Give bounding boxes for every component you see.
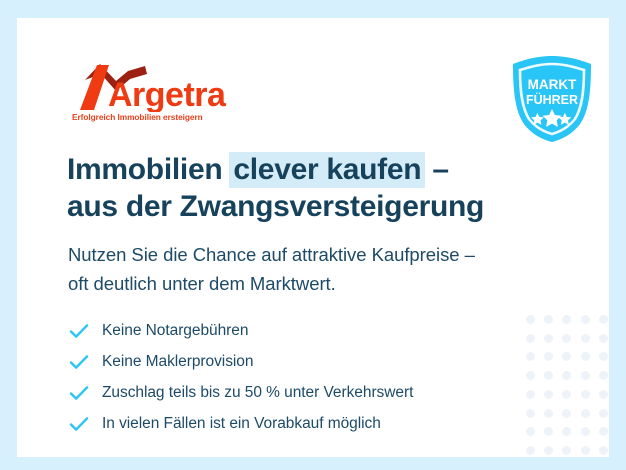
dot <box>581 334 590 343</box>
list-item: Keine Notargebühren <box>68 315 538 346</box>
dot <box>581 390 590 399</box>
dot <box>581 427 590 436</box>
dot <box>599 409 608 418</box>
headline-line1-after: – <box>424 153 448 186</box>
dot <box>562 446 571 455</box>
market-leader-badge: MARKT FÜHRER <box>507 53 597 145</box>
dot <box>544 371 553 380</box>
check-icon <box>68 382 90 404</box>
dot <box>581 446 590 455</box>
check-icon <box>68 413 90 435</box>
dot <box>581 371 590 380</box>
dot <box>581 315 590 324</box>
subtitle: Nutzen Sie die Chance auf attraktive Kau… <box>68 240 578 298</box>
dot <box>562 409 571 418</box>
dot <box>562 352 571 361</box>
dot <box>599 371 608 380</box>
dot <box>544 315 553 324</box>
dot <box>544 409 553 418</box>
badge-line2: FÜHRER <box>526 92 578 107</box>
dot <box>599 390 608 399</box>
dot <box>581 409 590 418</box>
list-item-label: In vielen Fällen ist ein Vorabkauf mögli… <box>102 414 381 434</box>
list-item: Keine Maklerprovision <box>68 346 538 377</box>
dot <box>599 427 608 436</box>
dot <box>599 446 608 455</box>
list-item: In vielen Fällen ist ein Vorabkauf mögli… <box>68 408 538 439</box>
banner-card: Argetra Erfolgreich Immobilien ersteiger… <box>17 18 609 457</box>
dot <box>544 334 553 343</box>
svg-text:Argetra: Argetra <box>108 76 227 112</box>
dot <box>581 352 590 361</box>
dot <box>562 427 571 436</box>
dot <box>599 315 608 324</box>
dot <box>562 334 571 343</box>
subtitle-line1: Nutzen Sie die Chance auf attraktive Kau… <box>68 244 475 265</box>
dot <box>599 334 608 343</box>
list-item-label: Keine Notargebühren <box>102 321 248 341</box>
argetra-logo-mark: Argetra <box>72 62 282 112</box>
badge-line1: MARKT <box>528 77 577 92</box>
headline-highlight: clever kaufen <box>229 152 425 188</box>
check-icon <box>68 351 90 373</box>
promo-banner: Argetra Erfolgreich Immobilien ersteiger… <box>0 0 626 470</box>
dot <box>599 352 608 361</box>
check-icon <box>68 320 90 342</box>
list-item-label: Keine Maklerprovision <box>102 352 253 372</box>
logo-tagline: Erfolgreich Immobilien ersteigern <box>72 112 203 122</box>
dot <box>544 446 553 455</box>
headline-line1: Immobilien clever kaufen – <box>67 153 449 186</box>
dot <box>526 446 535 455</box>
dot <box>544 390 553 399</box>
argetra-logo: Argetra Erfolgreich Immobilien ersteiger… <box>72 62 282 124</box>
dot <box>562 371 571 380</box>
subtitle-line2: oft deutlich unter dem Marktwert. <box>68 273 336 294</box>
headline-line1-before: Immobilien <box>67 153 230 186</box>
page-title: Immobilien clever kaufen – aus der Zwang… <box>67 151 567 225</box>
dot <box>562 390 571 399</box>
dot <box>544 352 553 361</box>
list-item: Zuschlag teils bis zu 50 % unter Verkehr… <box>68 377 538 408</box>
benefits-list: Keine Notargebühren Keine Maklerprovisio… <box>68 315 538 439</box>
dot <box>562 315 571 324</box>
list-item-label: Zuschlag teils bis zu 50 % unter Verkehr… <box>102 383 413 403</box>
headline-line2: aus der Zwangsversteigerung <box>67 190 484 223</box>
dot <box>544 427 553 436</box>
